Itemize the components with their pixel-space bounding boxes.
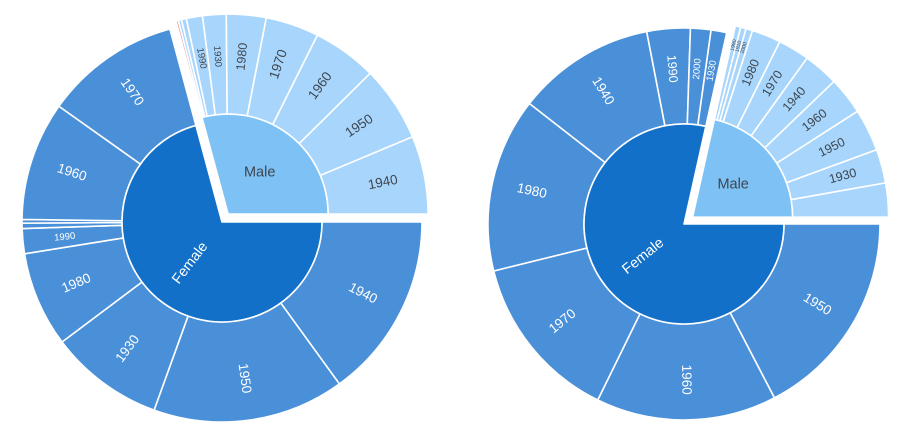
chart-panel-right[interactable]: 19501960197019801940199020001930Female19… [461, 0, 922, 444]
chart-panel-left[interactable]: 1940195019301980199019601970Female199019… [0, 0, 461, 444]
right-sunburst-chart[interactable]: 19501960197019801940199020001930Female19… [461, 0, 922, 444]
sunburst-figure: 1940195019301980199019601970Female199019… [0, 0, 922, 444]
left-sunburst-chart[interactable]: 1940195019301980199019601970Female199019… [0, 0, 461, 444]
